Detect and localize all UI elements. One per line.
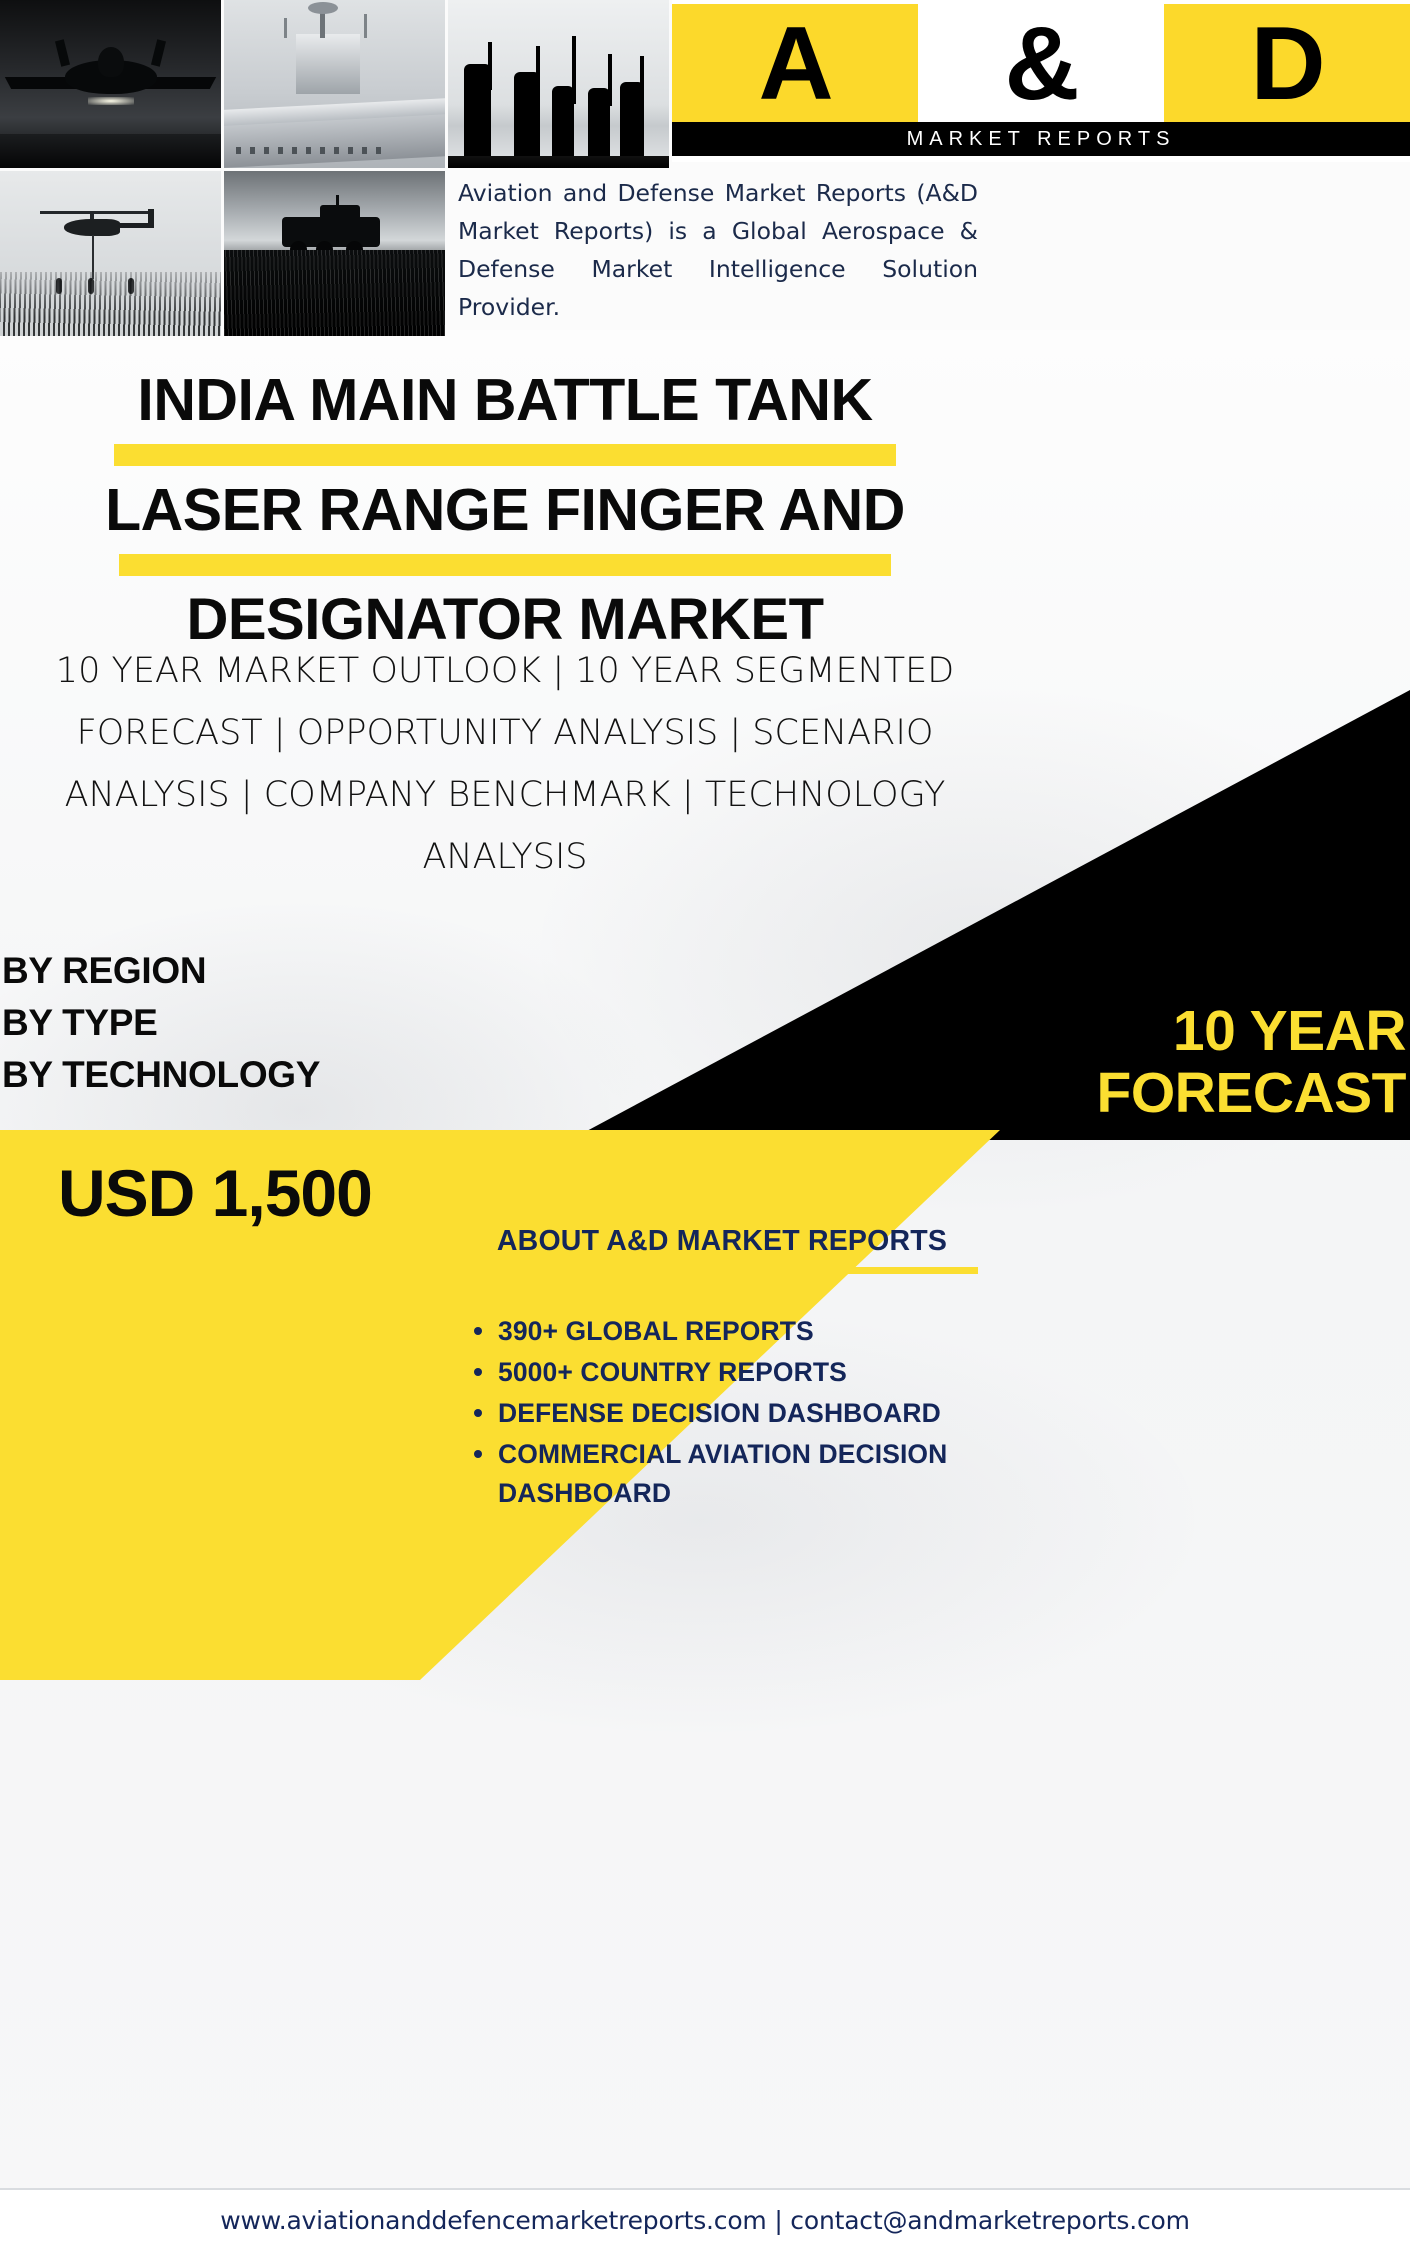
report-cover-page: A & D MARKET REPORTS Aviation and Defens… <box>0 0 1410 2250</box>
list-item: 5000+ COUNTRY REPORTS <box>462 1353 982 1392</box>
carrier-antenna-2 <box>364 14 367 38</box>
forecast-line-2: FORECAST <box>810 1062 1406 1124</box>
soldiers-ground <box>448 156 669 168</box>
segment-by-type: BY TYPE <box>2 997 320 1049</box>
logo-tagline-bar: MARKET REPORTS <box>672 122 1410 156</box>
vehicle-field <box>224 250 445 336</box>
forecast-callout: 10 YEAR FORECAST <box>810 1000 1410 1124</box>
bullet-dot-icon <box>474 1409 482 1417</box>
title-accent-bar-1 <box>114 444 896 466</box>
rifle-1 <box>488 42 492 90</box>
price-label: USD 1,500 <box>58 1155 372 1231</box>
photo-aircraft-carrier <box>224 0 445 168</box>
rifle-2 <box>536 46 540 98</box>
carrier-antenna-1 <box>284 18 287 38</box>
company-intro-paragraph: Aviation and Defense Market Reports (A&D… <box>458 174 978 326</box>
bullet-dot-icon <box>474 1327 482 1335</box>
footer-contact-bar: www.aviationanddefencemarketreports.com … <box>0 2188 1410 2250</box>
rifle-3 <box>572 36 576 104</box>
carrier-radar-dome <box>308 2 338 14</box>
about-bullet-1: 390+ GLOBAL REPORTS <box>498 1316 814 1346</box>
bullet-dot-icon <box>474 1368 482 1376</box>
helicopter-rotor <box>40 211 148 214</box>
segmentation-list: BY REGION BY TYPE BY TECHNOLOGY <box>2 945 320 1101</box>
soldier-4 <box>588 88 610 160</box>
photo-helicopter <box>0 171 221 336</box>
bullet-dot-icon <box>474 1450 482 1458</box>
about-bullet-3: DEFENSE DECISION DASHBOARD <box>498 1398 941 1428</box>
list-item: COMMERCIAL AVIATION DECISION DASHBOARD <box>462 1435 982 1513</box>
logo-tagline: MARKET REPORTS <box>907 128 1176 151</box>
logo-letter-ampersand: & <box>918 4 1164 124</box>
jet-afterburner-glow <box>88 97 134 105</box>
jet-deck <box>0 134 221 168</box>
rifle-4 <box>608 54 612 106</box>
title-line-1: INDIA MAIN BATTLE TANK <box>0 370 1010 430</box>
segment-by-technology: BY TECHNOLOGY <box>2 1049 320 1101</box>
photo-soldiers-silhouette <box>448 0 669 168</box>
about-heading: ABOUT A&D MARKET REPORTS <box>462 1225 982 1258</box>
about-bullet-list: 390+ GLOBAL REPORTS 5000+ COUNTRY REPORT… <box>462 1312 982 1513</box>
about-bullet-2: 5000+ COUNTRY REPORTS <box>498 1357 847 1387</box>
carrier-island-tower <box>296 34 360 94</box>
about-bullet-4: COMMERCIAL AVIATION DECISION DASHBOARD <box>498 1439 947 1508</box>
carrier-portholes <box>236 147 386 154</box>
report-title-block: INDIA MAIN BATTLE TANK LASER RANGE FINGE… <box>0 370 1010 650</box>
apc-antenna <box>336 195 339 207</box>
photo-fighter-jet <box>0 0 221 168</box>
soldier-1 <box>464 64 491 160</box>
about-section: ABOUT A&D MARKET REPORTS 390+ GLOBAL REP… <box>462 1225 982 1515</box>
logo-letter-row: A & D <box>672 4 1410 124</box>
footer-text: www.aviationanddefencemarketreports.com … <box>220 2206 1189 2235</box>
title-accent-bar-2 <box>119 554 891 576</box>
forecast-line-1: 10 YEAR <box>810 1000 1406 1062</box>
segment-by-region: BY REGION <box>2 945 320 997</box>
report-subtitle: 10 YEAR MARKET OUTLOOK | 10 YEAR SEGMENT… <box>20 640 990 888</box>
apc-turret <box>320 205 360 221</box>
jet-nose <box>98 47 124 77</box>
photo-armoured-vehicle <box>224 171 445 336</box>
helicopter-tail-fin <box>148 209 154 227</box>
rifle-5 <box>640 56 644 102</box>
list-item: 390+ GLOBAL REPORTS <box>462 1312 982 1351</box>
logo-letter-a: A <box>672 4 918 124</box>
title-line-2: LASER RANGE FINGER AND <box>0 480 1010 540</box>
list-item: DEFENSE DECISION DASHBOARD <box>462 1394 982 1433</box>
soldier-3 <box>552 86 574 160</box>
helicopter-field-grass <box>0 272 221 336</box>
brand-logo: A & D MARKET REPORTS <box>672 0 1410 162</box>
about-underline <box>462 1267 978 1274</box>
logo-letter-d: D <box>1164 4 1410 124</box>
